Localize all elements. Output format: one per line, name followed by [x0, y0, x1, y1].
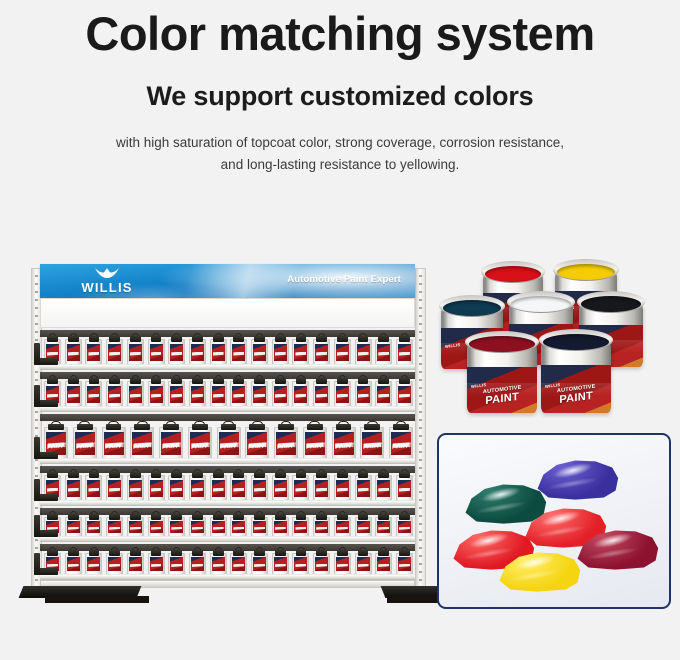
can-label: [191, 344, 204, 361]
can-paint-surface: [511, 296, 571, 312]
rack-shelf: [40, 330, 415, 370]
paint-can-on-shelf: [148, 475, 165, 501]
paint-can-on-shelf: [292, 517, 309, 537]
can-label: [212, 480, 225, 497]
can-label: [253, 521, 266, 534]
can-lid: [171, 336, 182, 342]
can-label: [253, 557, 266, 571]
can-lid: [68, 336, 79, 342]
paint-can-on-shelf: PAINT: [245, 427, 269, 459]
can-label: [274, 480, 287, 497]
can-lid: [337, 472, 348, 478]
can-lid: [358, 514, 369, 520]
can-label-word: PAINT: [105, 442, 123, 451]
paint-can-on-shelf: [168, 517, 185, 537]
can-label: [253, 344, 266, 361]
can-label: PAINT: [247, 432, 267, 455]
paint-can-on-shelf: [334, 475, 351, 501]
can-lid: [192, 550, 203, 556]
paint-can-on-shelf: [313, 553, 330, 575]
can-label: PAINT: [362, 432, 382, 455]
paint-can-on-shelf: [334, 339, 351, 365]
paint-can-on-shelf: [313, 517, 330, 537]
willis-wing-logo-icon: [64, 267, 150, 281]
rack-shelf: [40, 544, 415, 580]
can-lid: [89, 336, 100, 342]
can-lid: [151, 472, 162, 478]
can-lid: [213, 378, 224, 384]
paint-can-on-shelf: [210, 339, 227, 365]
can-label: [170, 344, 183, 361]
can-label: [129, 521, 142, 534]
maroon-chip: [575, 527, 659, 571]
banner-tagline: Automotive Paint Expert: [287, 274, 401, 285]
rack-shelves: PAINTPAINTPAINTPAINTPAINTPAINTPAINTPAINT…: [40, 330, 415, 580]
can-lid: [393, 424, 409, 430]
can-lid: [213, 514, 224, 520]
can-lid: [378, 472, 389, 478]
can-label: PAINT: [391, 432, 411, 455]
paint-can-on-shelf: [106, 475, 123, 501]
rack-slot-strip-right: [419, 275, 422, 581]
can-lid: [275, 378, 286, 384]
paint-can-on-shelf: [85, 517, 102, 537]
can-lid: [296, 514, 307, 520]
paint-can-on-shelf: [106, 553, 123, 575]
can-lid: [399, 378, 410, 384]
can-label: [377, 480, 390, 497]
can-lid: [233, 514, 244, 520]
can-label: [315, 386, 328, 403]
paint-can-on-shelf: [375, 381, 392, 407]
can-lid: [47, 378, 58, 384]
paint-can-on-shelf: [396, 475, 413, 501]
can-label: [87, 480, 100, 497]
can-lid: [109, 336, 120, 342]
can-lid: [233, 550, 244, 556]
paint-can-on-shelf: [189, 381, 206, 407]
can-label: [336, 480, 349, 497]
can-lid: [89, 514, 100, 520]
rack-blank-panel: [40, 298, 415, 328]
can-lid: [109, 472, 120, 478]
can-lid: [68, 378, 79, 384]
rack-post-right: [415, 268, 426, 588]
can-label: [150, 344, 163, 361]
paint-can-on-shelf: PAINT: [389, 427, 413, 459]
shelf-can-row: [44, 379, 413, 407]
can-label: [129, 344, 142, 361]
paint-can-on-shelf: [168, 381, 185, 407]
shelf-can-row: [44, 515, 413, 537]
paint-can-on-shelf: [292, 339, 309, 365]
can-lid: [316, 336, 327, 342]
can-lid: [130, 378, 141, 384]
can-label-word: PAINT: [306, 442, 324, 451]
can-lid: [47, 550, 58, 556]
paint-can-on-shelf: [106, 381, 123, 407]
can-label: [357, 521, 370, 534]
can-lid: [399, 472, 410, 478]
can-lid: [68, 514, 79, 520]
can-label: [377, 557, 390, 571]
paint-display-rack: WILLIS Automotive Paint Expert PAINTPAIN…: [31, 250, 426, 620]
promo-page: Color matching system We support customi…: [0, 0, 680, 660]
can-lid: [130, 550, 141, 556]
can-label: [232, 386, 245, 403]
can-lid: [337, 514, 348, 520]
can-lid: [171, 378, 182, 384]
can-lid: [254, 378, 265, 384]
can-label: [232, 344, 245, 361]
paint-can-on-shelf: [189, 553, 206, 575]
can-lid: [358, 378, 369, 384]
can-lid: [171, 472, 182, 478]
can-label: [212, 521, 225, 534]
rack-shelf: [40, 466, 415, 506]
can-label: [274, 557, 287, 571]
brand-lockup: WILLIS: [64, 267, 150, 295]
can-label: [150, 480, 163, 497]
paint-can-on-shelf: [230, 339, 247, 365]
can-lid: [151, 550, 162, 556]
paint-can-on-shelf: [396, 517, 413, 537]
can-label: [294, 557, 307, 571]
paint-can-on-shelf: [210, 475, 227, 501]
can-lid: [109, 550, 120, 556]
paint-can-on-shelf: PAINT: [274, 427, 298, 459]
can-label: [170, 386, 183, 403]
can-lid: [399, 550, 410, 556]
can-label: [253, 480, 266, 497]
can-lid: [278, 424, 294, 430]
can-lid: [316, 378, 327, 384]
can-lid: [48, 424, 64, 430]
paint-can-on-shelf: [106, 339, 123, 365]
can-lid: [254, 514, 265, 520]
can-lid: [307, 424, 323, 430]
paint-can-on-shelf: [375, 475, 392, 501]
can-label: [191, 480, 204, 497]
can-lid: [68, 472, 79, 478]
can-label-word: PAINT: [220, 442, 238, 451]
paint-can-on-shelf: [127, 517, 144, 537]
paint-can-on-shelf: [334, 553, 351, 575]
can-lid: [249, 424, 265, 430]
can-label: [212, 557, 225, 571]
paint-can-on-shelf: [65, 553, 82, 575]
can-lid: [130, 472, 141, 478]
can-label: PAINT: [190, 432, 210, 455]
paint-can-on-shelf: [251, 553, 268, 575]
can-paint-surface: [485, 266, 541, 282]
can-lid: [233, 336, 244, 342]
can-label: [336, 344, 349, 361]
paint-can-on-shelf: PAINT: [303, 427, 327, 459]
can-paint-surface: [469, 336, 535, 352]
paint-can-on-shelf: PAINT: [102, 427, 126, 459]
paint-can-on-shelf: [127, 381, 144, 407]
paint-can-on-shelf: [334, 381, 351, 407]
can-lid: [151, 378, 162, 384]
can-lid: [221, 424, 237, 430]
paint-can-on-shelf: [148, 553, 165, 575]
paint-can-on-shelf: [127, 339, 144, 365]
paint-can-on-shelf: [375, 517, 392, 537]
can-label: [357, 480, 370, 497]
can-lid: [316, 550, 327, 556]
can-paint-surface: [543, 334, 609, 350]
paint-can-on-shelf: [251, 339, 268, 365]
can-lid: [130, 514, 141, 520]
can-body: WILLISAUTOMOTIVEPAINT: [541, 341, 611, 413]
paint-can-on-shelf: [292, 381, 309, 407]
can-label: [150, 521, 163, 534]
shelf-rail: [40, 536, 415, 542]
paint-can-on-shelf: [272, 553, 289, 575]
paint-can-on-shelf: [189, 517, 206, 537]
can-paint-surface: [581, 296, 641, 312]
can-lid: [213, 472, 224, 478]
can-lid: [47, 514, 58, 520]
shelf-rail: [40, 364, 415, 370]
can-lid: [130, 336, 141, 342]
can-label: [212, 386, 225, 403]
can-lid: [254, 472, 265, 478]
header-section: Color matching system We support customi…: [0, 0, 680, 176]
can-label-word: PAINT: [335, 442, 353, 451]
shelf-bracket-stem: [34, 385, 40, 407]
can-label: PAINT: [132, 432, 152, 455]
paint-can-on-shelf: [65, 339, 82, 365]
paint-can-on-shelf: [168, 339, 185, 365]
can-label-word: PAINT: [191, 442, 209, 451]
can-label-word: PAINT: [277, 442, 295, 451]
paint-can-on-shelf: [251, 475, 268, 501]
can-rim: [481, 261, 545, 283]
can-lid: [378, 336, 389, 342]
shelf-back-strip: [40, 414, 415, 421]
can-lid: [89, 378, 100, 384]
paint-can-on-shelf: [313, 339, 330, 365]
can-label: [212, 344, 225, 361]
can-lid: [192, 336, 203, 342]
crimson-paint-can: WILLISAUTOMOTIVEPAINT: [467, 329, 537, 413]
can-label: PAINT: [219, 432, 239, 455]
can-label: [108, 521, 121, 534]
paint-can-on-shelf: PAINT: [360, 427, 384, 459]
can-label: [398, 386, 411, 403]
can-label: [274, 386, 287, 403]
paint-can-on-shelf: [292, 553, 309, 575]
paint-can-on-shelf: [85, 381, 102, 407]
can-label: [377, 521, 390, 534]
can-label: [67, 386, 80, 403]
paint-can-on-shelf: [65, 381, 82, 407]
can-label-word: PAINT: [47, 442, 65, 451]
can-paint-surface: [557, 264, 615, 280]
paint-can-on-shelf: [168, 553, 185, 575]
description-line-2: and long-lasting resistance to yellowing…: [0, 154, 680, 176]
paint-can-on-shelf: [396, 553, 413, 575]
can-lid: [399, 514, 410, 520]
can-label: [377, 344, 390, 361]
can-label: [67, 521, 80, 534]
paint-can-on-shelf: [396, 381, 413, 407]
can-lid: [399, 336, 410, 342]
can-lid: [275, 336, 286, 342]
paint-can-on-shelf: PAINT: [217, 427, 241, 459]
paint-can-on-shelf: [355, 553, 372, 575]
can-lid: [213, 336, 224, 342]
paint-can-on-shelf: [313, 475, 330, 501]
paint-can-on-shelf: [210, 381, 227, 407]
hero-imagery: WILLIS Automotive Paint Expert PAINTPAIN…: [0, 235, 680, 660]
paint-can-on-shelf: [65, 517, 82, 537]
paint-can-on-shelf: [230, 381, 247, 407]
paint-can-on-shelf: [272, 517, 289, 537]
can-label: PAINT: [334, 432, 354, 455]
can-label: PAINT: [161, 432, 181, 455]
can-label: [315, 344, 328, 361]
can-lid: [171, 550, 182, 556]
can-label: [170, 557, 183, 571]
can-lid: [151, 514, 162, 520]
can-lid: [106, 424, 122, 430]
can-label: [315, 557, 328, 571]
can-lid: [296, 336, 307, 342]
paint-can-on-shelf: [189, 475, 206, 501]
paint-can-on-shelf: PAINT: [332, 427, 356, 459]
can-label-word: PAINT: [392, 442, 410, 451]
shelf-rail: [40, 458, 415, 464]
can-lid: [336, 424, 352, 430]
can-lid: [134, 424, 150, 430]
paint-can-on-shelf: [292, 475, 309, 501]
paint-can-on-shelf: [127, 553, 144, 575]
paint-can-on-shelf: [65, 475, 82, 501]
can-lid: [358, 550, 369, 556]
can-label: [67, 557, 80, 571]
can-lid: [358, 472, 369, 478]
can-lid: [378, 550, 389, 556]
paint-can-on-shelf: [189, 339, 206, 365]
can-lid: [192, 514, 203, 520]
can-label: [357, 386, 370, 403]
rack-header-banner: WILLIS Automotive Paint Expert: [40, 264, 415, 298]
can-lid: [89, 550, 100, 556]
can-label: [377, 386, 390, 403]
shelf-bracket-stem: [34, 515, 40, 537]
can-label-word: PAINT: [133, 442, 151, 451]
paint-can-on-shelf: [148, 339, 165, 365]
can-lid: [89, 472, 100, 478]
can-lid: [109, 378, 120, 384]
can-lid: [254, 336, 265, 342]
can-label: PAINT: [75, 432, 95, 455]
paint-can-on-shelf: PAINT: [130, 427, 154, 459]
can-lid: [192, 472, 203, 478]
color-sample-panel: [437, 433, 671, 609]
can-label: [232, 521, 245, 534]
can-label: PAINT: [305, 432, 325, 455]
can-lid: [275, 514, 286, 520]
shelf-bracket-stem: [34, 479, 40, 501]
can-lid: [192, 378, 203, 384]
paint-can-on-shelf: [313, 381, 330, 407]
can-lid: [364, 424, 380, 430]
can-label: [294, 480, 307, 497]
can-label-wrap: WILLISAUTOMOTIVEPAINT: [467, 367, 537, 413]
can-lid: [275, 472, 286, 478]
can-label: [150, 557, 163, 571]
can-label: [398, 344, 411, 361]
brand-name: WILLIS: [64, 280, 150, 295]
can-lid: [337, 378, 348, 384]
can-lid: [233, 378, 244, 384]
can-label: [87, 344, 100, 361]
can-label: [67, 344, 80, 361]
can-label-word: PAINT: [363, 442, 381, 451]
navy-paint-can: WILLISAUTOMOTIVEPAINT: [541, 327, 611, 413]
paint-can-on-shelf: [272, 339, 289, 365]
paint-can-on-shelf: [334, 517, 351, 537]
can-lid: [213, 550, 224, 556]
can-label: [191, 557, 204, 571]
paint-can-on-shelf: [230, 475, 247, 501]
shelf-can-row: [44, 473, 413, 501]
can-lid: [77, 424, 93, 430]
can-label: [274, 521, 287, 534]
can-rim: [465, 331, 539, 353]
paint-can-on-shelf: PAINT: [188, 427, 212, 459]
paint-can-on-shelf: PAINT: [159, 427, 183, 459]
paint-can-on-shelf: [230, 517, 247, 537]
can-lid: [296, 550, 307, 556]
can-label: [67, 480, 80, 497]
can-label: [294, 344, 307, 361]
paint-can-on-shelf: [148, 517, 165, 537]
can-rim: [553, 259, 619, 281]
paint-can-on-shelf: [210, 553, 227, 575]
can-lid: [337, 336, 348, 342]
rack-foot-plate-left: [45, 596, 149, 603]
can-label: [336, 557, 349, 571]
can-label: [87, 521, 100, 534]
can-lid: [275, 550, 286, 556]
can-lid: [233, 472, 244, 478]
can-brand-text: WILLIS: [445, 342, 460, 349]
shelf-can-row: [44, 551, 413, 575]
paint-can-on-shelf: [355, 475, 372, 501]
paint-can-on-shelf: [85, 475, 102, 501]
can-label: [150, 386, 163, 403]
paint-can-on-shelf: [127, 475, 144, 501]
paint-can-on-shelf: [251, 517, 268, 537]
can-label: [108, 557, 121, 571]
can-lid: [109, 514, 120, 520]
paint-can-on-shelf: [272, 475, 289, 501]
shelf-bracket-stem: [34, 437, 40, 459]
paint-can-on-shelf: [375, 553, 392, 575]
paint-can-on-shelf: [251, 381, 268, 407]
can-lid: [378, 378, 389, 384]
paint-can-on-shelf: [210, 517, 227, 537]
can-label: [357, 344, 370, 361]
can-lid: [316, 472, 327, 478]
can-lid: [378, 514, 389, 520]
page-title: Color matching system: [0, 8, 680, 61]
